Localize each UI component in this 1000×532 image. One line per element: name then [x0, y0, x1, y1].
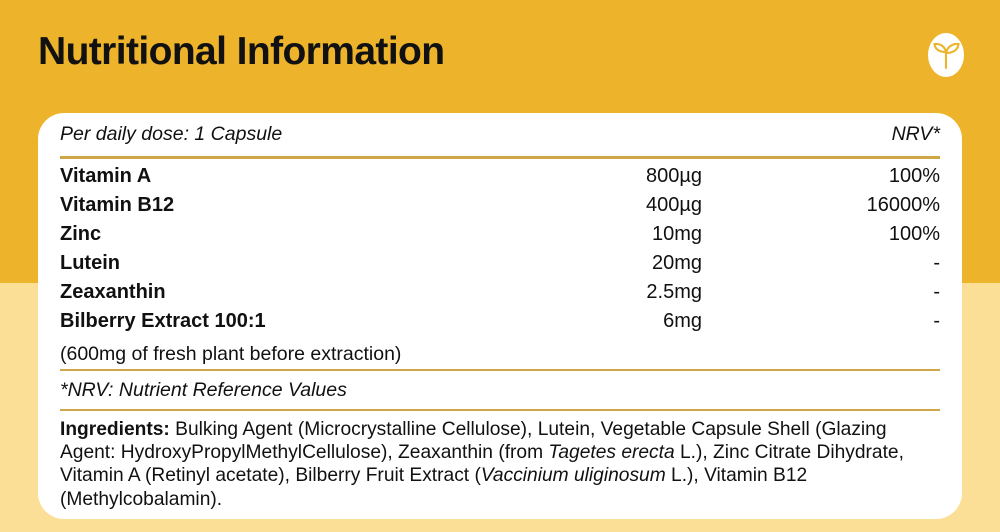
extract-note: (600mg of fresh plant before extraction) — [60, 339, 940, 369]
nutrient-name: Vitamin A — [60, 165, 512, 188]
nutrient-nrv: - — [702, 281, 940, 304]
table-row: Vitamin A 800µg 100% — [60, 165, 940, 194]
nutrient-amount: 2.5mg — [512, 281, 702, 304]
nutrient-table: Vitamin A 800µg 100% Vitamin B12 400µg 1… — [60, 159, 940, 369]
nutrient-name: Zinc — [60, 223, 512, 246]
nutrient-nrv: 100% — [702, 165, 940, 188]
table-row: Zeaxanthin 2.5mg - — [60, 281, 940, 310]
nutrient-amount: 400µg — [512, 194, 702, 217]
dose-header-row: Per daily dose: 1 Capsule NRV* — [60, 113, 940, 156]
table-row: Bilberry Extract 100:1 6mg - — [60, 310, 940, 339]
nutrition-panel: Nutritional Information Per daily dose: … — [0, 0, 1000, 532]
nutrient-nrv: - — [702, 310, 940, 333]
nutrient-amount: 6mg — [512, 310, 702, 333]
table-row: Zinc 10mg 100% — [60, 223, 940, 252]
nutrient-amount: 20mg — [512, 252, 702, 275]
dose-label: Per daily dose: 1 Capsule — [60, 123, 282, 146]
nutrition-card: Per daily dose: 1 Capsule NRV* Vitamin A… — [38, 113, 962, 519]
nutrient-amount: 10mg — [512, 223, 702, 246]
page-title: Nutritional Information — [38, 30, 445, 74]
table-row: Lutein 20mg - — [60, 252, 940, 281]
ingredients-paragraph: Ingredients: Bulking Agent (Microcrystal… — [60, 411, 940, 511]
nutrient-name: Zeaxanthin — [60, 281, 512, 304]
nutrient-amount: 800µg — [512, 165, 702, 188]
nrv-footnote: *NRV: Nutrient Reference Values — [60, 371, 940, 409]
nutrient-name: Bilberry Extract 100:1 — [60, 310, 512, 333]
nutrient-name: Vitamin B12 — [60, 194, 512, 217]
table-row: Vitamin B12 400µg 16000% — [60, 194, 940, 223]
ingredients-species-2: Vaccinium uliginosum — [481, 465, 666, 486]
panel-header: Nutritional Information — [0, 0, 1000, 104]
nutrient-nrv: - — [702, 252, 940, 275]
ingredients-species-1: Tagetes erecta — [548, 442, 674, 463]
ingredients-label: Ingredients: — [60, 419, 170, 440]
nutrient-nrv: 16000% — [702, 194, 940, 217]
nutrient-name: Lutein — [60, 252, 512, 275]
sprout-icon — [925, 31, 967, 79]
nrv-column-header: NRV* — [892, 123, 940, 146]
nutrient-nrv: 100% — [702, 223, 940, 246]
